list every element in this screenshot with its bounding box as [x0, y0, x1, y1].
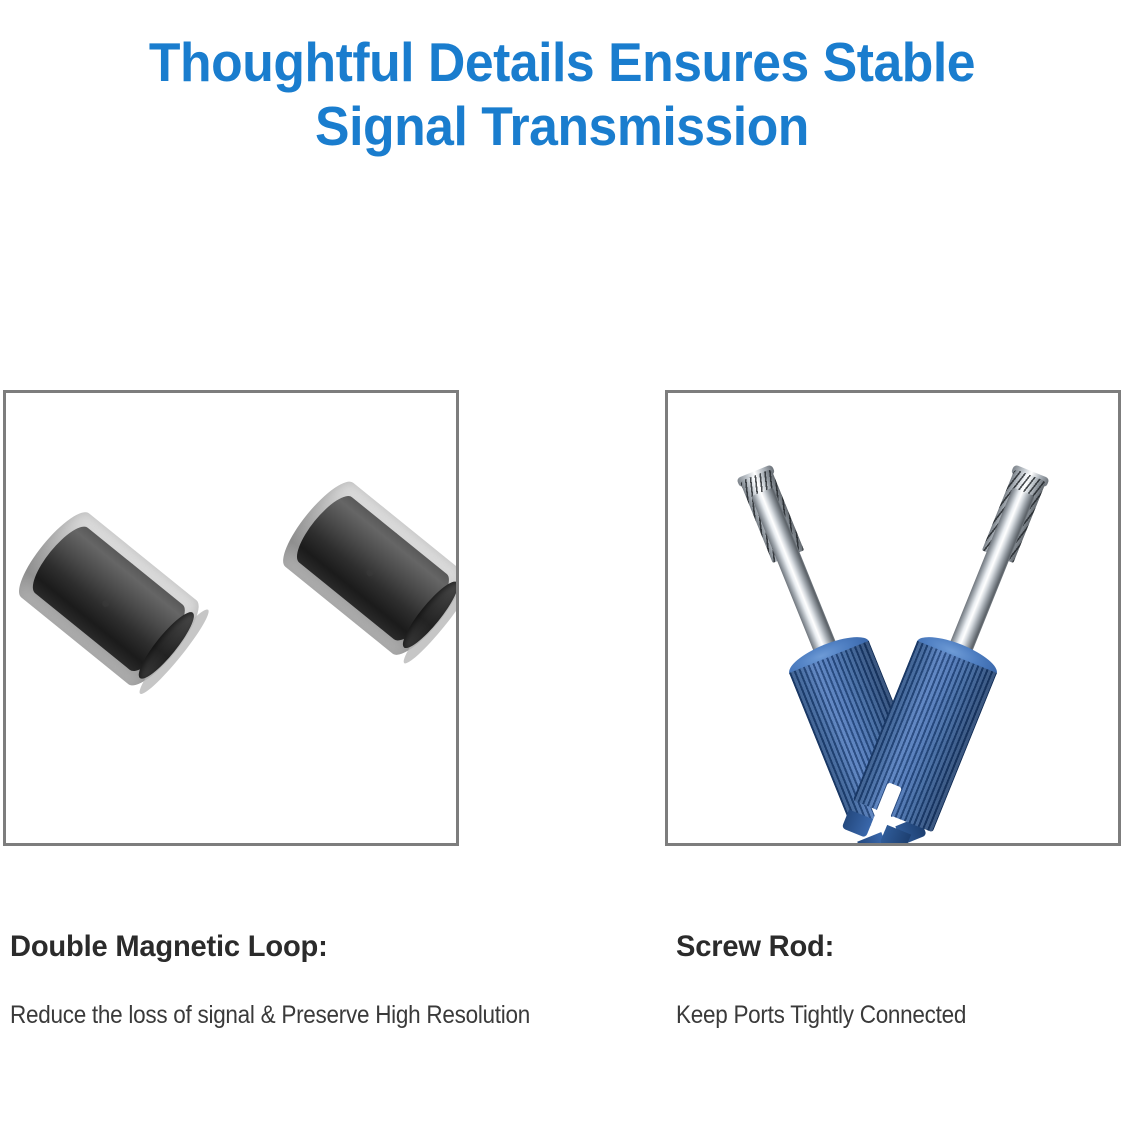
- page-title-line-2: Signal Transmission: [34, 94, 1091, 158]
- ferrite-vent-dot: [365, 568, 375, 578]
- ferrite-vent-dot: [101, 599, 111, 609]
- screw-rod-illustration: [668, 393, 1118, 843]
- feature-captions: Double Magnetic Loop: Reduce the loss of…: [0, 930, 1124, 1070]
- page-title-line-1: Thoughtful Details Ensures Stable: [34, 30, 1091, 94]
- screw-rod-right: [847, 455, 1072, 843]
- panel-double-magnetic-loop: [3, 390, 459, 846]
- caption-double-magnetic-loop: Double Magnetic Loop: Reduce the loss of…: [10, 930, 630, 1030]
- panel-screw-rod: [665, 390, 1121, 846]
- feature-panels: [0, 390, 1124, 846]
- caption-heading: Double Magnetic Loop:: [10, 930, 611, 964]
- page-title: Thoughtful Details Ensures Stable Signal…: [0, 30, 1124, 158]
- caption-heading: Screw Rod:: [676, 930, 1103, 964]
- caption-screw-rod: Screw Rod: Keep Ports Tightly Connected: [676, 930, 1116, 1030]
- caption-subtext: Keep Ports Tightly Connected: [676, 1000, 1072, 1030]
- caption-subtext: Reduce the loss of signal & Preserve Hig…: [10, 1000, 568, 1030]
- magnetic-loop-illustration: [6, 393, 456, 843]
